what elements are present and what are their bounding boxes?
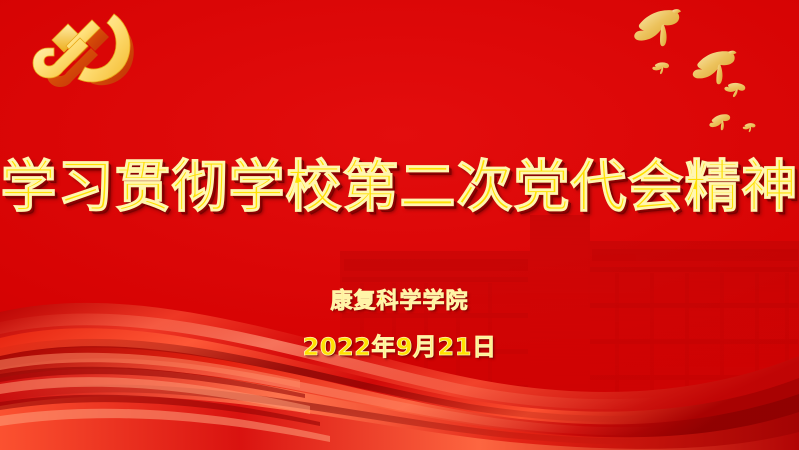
peace-doves xyxy=(599,0,799,150)
chinese-communist-party-emblem xyxy=(30,2,154,106)
poster-slide: 学习贯彻学校第二次党代会精神 康复科学学院 2022年9月21日 xyxy=(0,0,799,450)
organization-subtitle: 康复科学学院 xyxy=(0,283,799,315)
event-date: 2022年9月21日 xyxy=(0,327,799,362)
page-title: 学习贯彻学校第二次党代会精神 xyxy=(0,157,799,219)
